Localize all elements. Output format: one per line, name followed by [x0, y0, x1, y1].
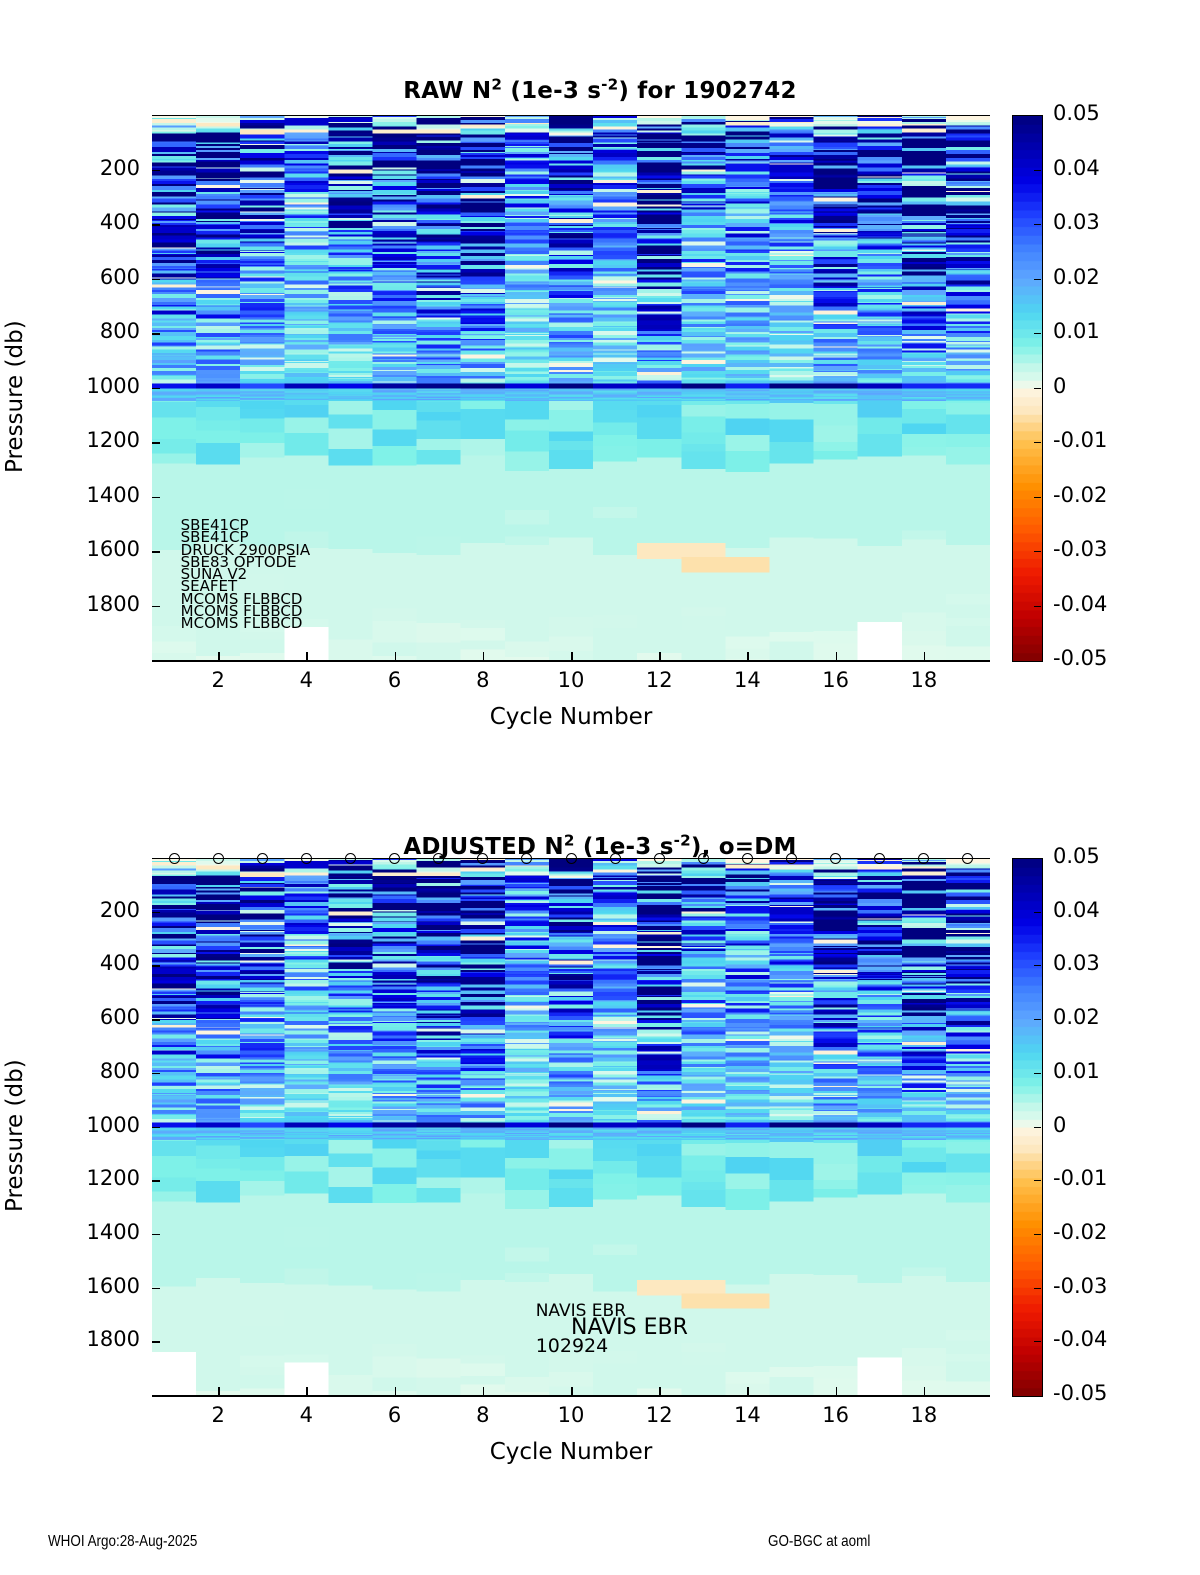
colorbar-tick-label: 0.03 [1053, 951, 1100, 975]
x-axis-tick [836, 652, 838, 660]
y-axis-tick [152, 333, 160, 335]
y-axis-tick [152, 1180, 160, 1182]
y-axis-tick-label: 200 [48, 156, 140, 180]
y-axis-tick [152, 912, 160, 914]
y-axis-tick-label: 800 [48, 1059, 140, 1083]
x-axis-tick-label: 8 [443, 668, 523, 692]
colorbar-tick [1034, 279, 1041, 280]
y-axis-tick-label: 200 [48, 898, 140, 922]
delayed-mode-marker [874, 853, 885, 864]
colorbar-tick-label: -0.02 [1053, 483, 1107, 507]
x-axis-tick-label: 6 [355, 668, 435, 692]
plot-annotation: MCOMS FLBBCD [181, 614, 303, 632]
y-axis-tick [152, 1019, 160, 1021]
y-axis-tick-label: 600 [48, 1005, 140, 1029]
raw-heatmap-axes [152, 115, 990, 660]
x-axis-tick [395, 1387, 397, 1395]
colorbar-tick-label: 0.05 [1053, 101, 1100, 125]
delayed-mode-marker [610, 853, 621, 864]
x-axis-tick-label: 2 [178, 1403, 258, 1427]
colorbar-tick-label: -0.05 [1053, 1381, 1107, 1405]
y-axis-tick-label: 1400 [48, 483, 140, 507]
colorbar-tick [1034, 1073, 1041, 1074]
x-axis-tick [836, 1387, 838, 1395]
colorbar-tick [1034, 497, 1041, 498]
y-axis-tick-label: 1800 [48, 592, 140, 616]
adjusted-x-axis-title: Cycle Number [371, 1439, 771, 1465]
colorbar-tick-label: -0.05 [1053, 646, 1107, 670]
colorbar-tick [1034, 170, 1041, 171]
colorbar-tick-label: -0.03 [1053, 1274, 1107, 1298]
colorbar-tick-label: 0.02 [1053, 1005, 1100, 1029]
delayed-mode-marker [830, 853, 841, 864]
x-axis-tick [924, 1387, 926, 1395]
y-axis-tick [152, 1288, 160, 1290]
x-axis-tick [306, 652, 308, 660]
y-axis-tick [152, 279, 160, 281]
y-axis-tick [152, 1127, 160, 1129]
y-axis-tick-label: 600 [48, 265, 140, 289]
y-axis-tick [152, 224, 160, 226]
y-axis-tick [152, 497, 160, 499]
delayed-mode-marker [213, 853, 224, 864]
colorbar-tick [1034, 1288, 1041, 1289]
colorbar-tick-label: -0.03 [1053, 537, 1107, 561]
x-axis-tick [571, 1387, 573, 1395]
colorbar-tick [1034, 388, 1041, 389]
y-axis-tick [152, 606, 160, 608]
colorbar-tick [1034, 1180, 1041, 1181]
colorbar-tick-label: 0 [1053, 1113, 1066, 1137]
colorbar-tick [1034, 224, 1041, 225]
x-axis-tick-label: 18 [884, 1403, 964, 1427]
delayed-mode-marker [389, 853, 400, 864]
delayed-mode-marker [345, 853, 356, 864]
x-axis-tick [306, 1387, 308, 1395]
colorbar-tick-label: 0.03 [1053, 210, 1100, 234]
x-axis-tick [483, 652, 485, 660]
colorbar-tick [1034, 1127, 1041, 1128]
x-axis-tick [659, 652, 661, 660]
y-axis-tick-label: 1600 [48, 537, 140, 561]
adjusted-plot-title: ADJUSTED N2 (1e-3 s-2), o=DM [0, 834, 1200, 860]
y-axis-tick-label: 1600 [48, 1274, 140, 1298]
panel-raw: RAW N2 (1e-3 s-2) for 1902742 Pressure (… [0, 0, 1200, 760]
footer-right-text: GO-BGC at aoml [768, 1533, 870, 1551]
x-axis-tick-label: 18 [884, 668, 964, 692]
y-axis-tick [152, 551, 160, 553]
x-axis-line [152, 660, 990, 662]
y-axis-tick [152, 170, 160, 172]
colorbar-tick [1034, 333, 1041, 334]
colorbar-tick [1034, 965, 1041, 966]
x-axis-tick-label: 6 [355, 1403, 435, 1427]
colorbar-tick-label: 0.05 [1053, 844, 1100, 868]
colorbar-tick [1034, 606, 1041, 607]
y-axis-tick-label: 1200 [48, 1166, 140, 1190]
x-axis-tick [218, 652, 220, 660]
y-axis-tick-label: 1200 [48, 428, 140, 452]
colorbar-tick-label: 0 [1053, 374, 1066, 398]
colorbar-tick-label: -0.04 [1053, 592, 1107, 616]
heatmap-image [152, 115, 990, 660]
x-axis-tick-label: 10 [531, 668, 611, 692]
y-axis-tick-label: 1800 [48, 1327, 140, 1351]
delayed-mode-marker [566, 853, 577, 864]
y-axis-tick-label: 400 [48, 951, 140, 975]
delayed-mode-marker [521, 853, 532, 864]
delayed-mode-marker [918, 853, 929, 864]
x-axis-tick [218, 1387, 220, 1395]
colorbar-tick [1034, 442, 1041, 443]
x-axis-tick-label: 16 [796, 668, 876, 692]
delayed-mode-marker [169, 853, 180, 864]
x-axis-tick [747, 652, 749, 660]
y-axis-tick-label: 1000 [48, 374, 140, 398]
y-axis-tick-label: 400 [48, 210, 140, 234]
x-axis-tick-label: 2 [178, 668, 258, 692]
y-axis-tick [152, 442, 160, 444]
raw-x-axis-title: Cycle Number [371, 704, 771, 730]
x-axis-tick [395, 652, 397, 660]
colorbar-tick-label: -0.01 [1053, 1166, 1107, 1190]
colorbar-tick [1034, 1019, 1041, 1020]
x-axis-line [152, 1395, 990, 1397]
y-axis-tick [152, 1073, 160, 1075]
colorbar-tick-label: 0.01 [1053, 319, 1100, 343]
x-axis-tick [924, 652, 926, 660]
colorbar-tick-label: -0.02 [1053, 1220, 1107, 1244]
x-axis-tick [483, 1387, 485, 1395]
raw-y-axis-title: Pressure (db) [2, 320, 28, 473]
adjusted-y-axis-title: Pressure (db) [2, 1059, 28, 1212]
delayed-mode-marker [477, 853, 488, 864]
x-axis-tick [659, 1387, 661, 1395]
x-axis-tick-label: 10 [531, 1403, 611, 1427]
panel-adjusted: ADJUSTED N2 (1e-3 s-2), o=DM Pressure (d… [0, 740, 1200, 1480]
delayed-mode-marker [433, 853, 444, 864]
adjusted-colorbar [1012, 858, 1043, 1397]
x-axis-tick-label: 8 [443, 1403, 523, 1427]
colorbar-tick [1034, 1341, 1041, 1342]
x-axis-tick [571, 652, 573, 660]
y-axis-tick [152, 965, 160, 967]
x-axis-tick-label: 12 [619, 668, 699, 692]
colorbar-tick-label: 0.04 [1053, 898, 1100, 922]
plot-annotation: 102924 [536, 1335, 609, 1357]
colorbar-tick-label: -0.01 [1053, 428, 1107, 452]
x-axis-tick [747, 1387, 749, 1395]
x-axis-tick-label: 16 [796, 1403, 876, 1427]
delayed-mode-marker [786, 853, 797, 864]
delayed-mode-marker [742, 853, 753, 864]
delayed-mode-marker [654, 853, 665, 864]
colorbar-tick [1034, 1234, 1041, 1235]
x-axis-tick-label: 14 [707, 1403, 787, 1427]
x-axis-tick-label: 14 [707, 668, 787, 692]
top-axis-line [152, 115, 990, 116]
delayed-mode-marker [962, 853, 973, 864]
footer-left-text: WHOI Argo:28-Aug-2025 [48, 1533, 197, 1551]
y-axis-tick-label: 800 [48, 319, 140, 343]
colorbar-tick-label: 0.02 [1053, 265, 1100, 289]
y-axis-tick [152, 388, 160, 390]
colorbar-tick [1034, 912, 1041, 913]
x-axis-tick-label: 4 [266, 668, 346, 692]
raw-plot-title: RAW N2 (1e-3 s-2) for 1902742 [0, 78, 1200, 104]
colorbar-tick-label: -0.04 [1053, 1327, 1107, 1351]
delayed-mode-marker [257, 853, 268, 864]
raw-colorbar [1012, 115, 1043, 662]
delayed-mode-marker [301, 853, 312, 864]
y-axis-tick-label: 1000 [48, 1113, 140, 1137]
y-axis-tick [152, 1234, 160, 1236]
colorbar-tick-label: 0.01 [1053, 1059, 1100, 1083]
colorbar-tick-label: 0.04 [1053, 156, 1100, 180]
y-axis-tick [152, 1341, 160, 1343]
delayed-mode-marker [698, 853, 709, 864]
x-axis-tick-label: 12 [619, 1403, 699, 1427]
x-axis-tick-label: 4 [266, 1403, 346, 1427]
colorbar-tick [1034, 551, 1041, 552]
y-axis-tick-label: 1400 [48, 1220, 140, 1244]
